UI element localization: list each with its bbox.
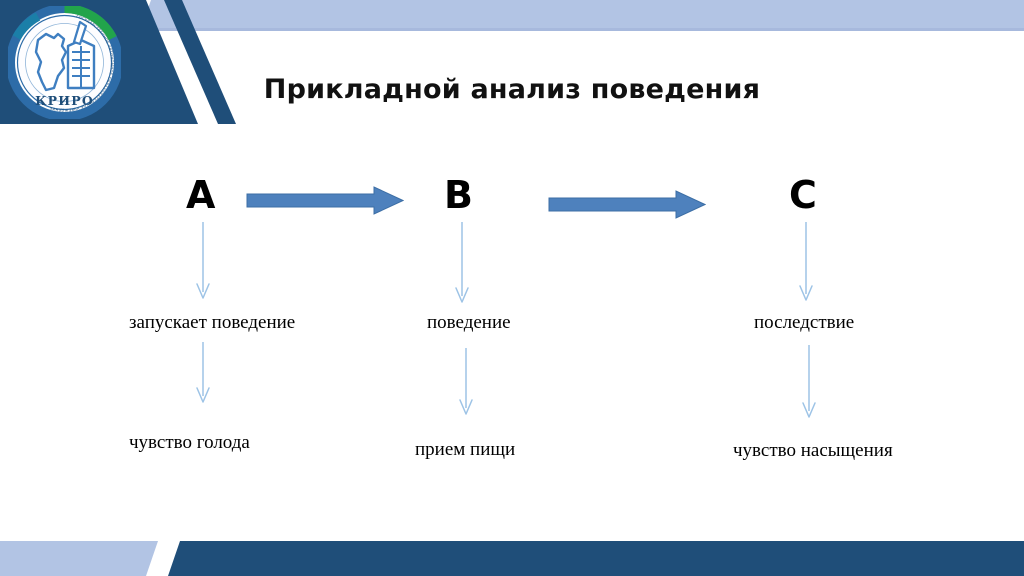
- vertical-arrow-c-top: [789, 222, 823, 302]
- node-label-c-middle: последствие: [754, 313, 854, 332]
- vertical-arrow-a-top: [186, 222, 220, 300]
- vertical-arrow-b-top: [445, 222, 479, 304]
- abc-diagram: A запускает поведение чувство голода B п…: [0, 0, 1024, 576]
- node-letter-b: B: [444, 176, 473, 214]
- node-letter-a: A: [186, 176, 215, 214]
- connector-arrow-a-to-b: [246, 186, 404, 216]
- connector-arrow-b-to-c: [548, 190, 706, 220]
- vertical-arrow-a-bottom: [186, 342, 220, 404]
- slide: КРИРО ГОСУДАРСТВЕННОЕ АВТОНОМНОЕ ОБРАЗОВ…: [0, 0, 1024, 576]
- node-label-a-bottom: чувство голода: [129, 433, 250, 452]
- node-letter-c: C: [789, 176, 817, 214]
- vertical-arrow-c-bottom: [792, 345, 826, 419]
- node-label-c-bottom: чувство насыщения: [733, 441, 893, 460]
- vertical-arrow-b-bottom: [449, 348, 483, 416]
- node-label-b-middle: поведение: [427, 313, 511, 332]
- node-label-b-bottom: прием пищи: [415, 440, 515, 459]
- node-label-a-middle: запускает поведение: [129, 313, 295, 332]
